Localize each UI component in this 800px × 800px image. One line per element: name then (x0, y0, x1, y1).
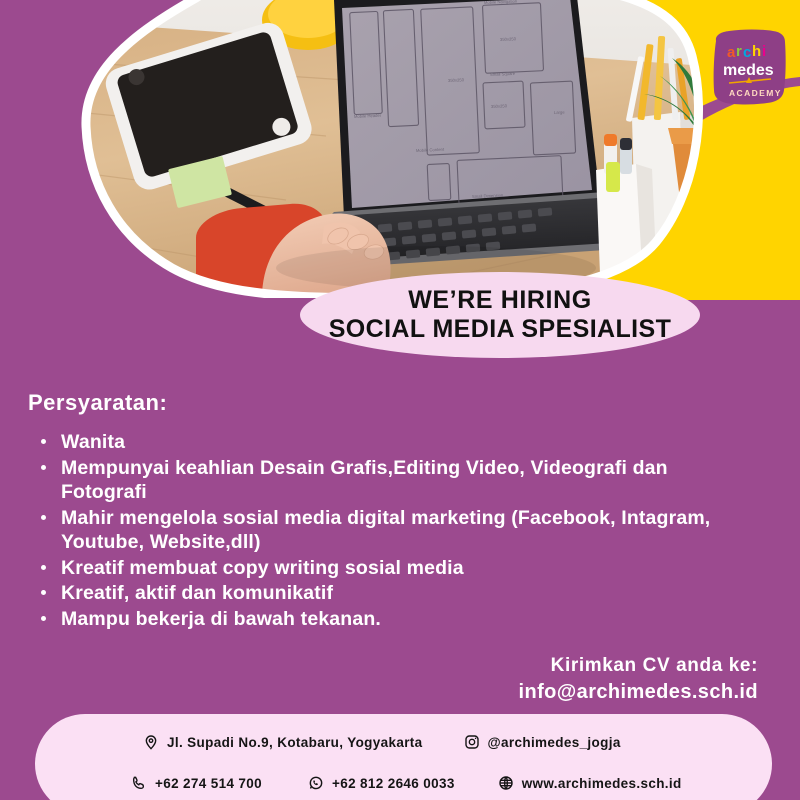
svg-text:i: i (762, 43, 766, 60)
bullet-icon (41, 565, 46, 570)
svg-text:h: h (752, 43, 761, 60)
footer-contact-bar: Jl. Supadi No.9, Kotabaru, Yogyakarta @a… (35, 714, 772, 800)
contact-phone[interactable]: +62 274 514 700 (130, 774, 262, 792)
contact-address-text: Jl. Supadi No.9, Kotabaru, Yogyakarta (167, 735, 423, 750)
list-item: Wanita (38, 430, 728, 455)
globe-icon (497, 774, 515, 792)
list-item-text: Kreatif membuat copy writing sosial medi… (61, 557, 464, 579)
bullet-icon (41, 465, 46, 470)
whatsapp-icon (307, 774, 325, 792)
requirements-title: Persyaratan: (28, 390, 167, 416)
headline-line-2: SOCIAL MEDIA SPESIALIST (329, 315, 672, 343)
contact-website-text: www.archimedes.sch.id (522, 776, 682, 791)
contact-address: Jl. Supadi No.9, Kotabaru, Yogyakarta (142, 733, 423, 751)
contact-instagram-text: @archimedes_jogja (488, 735, 621, 750)
footer-row-top: Jl. Supadi No.9, Kotabaru, Yogyakarta @a… (35, 727, 772, 757)
bullet-icon (41, 439, 46, 444)
cv-email[interactable]: info@archimedes.sch.id (519, 678, 758, 706)
contact-phone-text: +62 274 514 700 (155, 776, 262, 791)
list-item: Kreatif, aktif dan komunikatif (38, 581, 728, 606)
requirements-list: Wanita Mempunyai keahlian Desain Grafis,… (38, 430, 728, 632)
hero-photo: Mobile Navigation 350x250 350x250 350x25… (76, 0, 706, 298)
contact-whatsapp-text: +62 812 2646 0033 (332, 776, 455, 791)
footer-row-bottom: +62 274 514 700 +62 812 2646 0033 (35, 768, 772, 798)
list-item-text: Mampu bekerja di bawah tekanan. (61, 608, 381, 630)
cv-submission-block: Kirimkan CV anda ke: info@archimedes.sch… (519, 654, 758, 706)
bullet-icon (41, 616, 46, 621)
location-pin-icon (142, 733, 160, 751)
contact-instagram[interactable]: @archimedes_jogja (463, 733, 621, 751)
svg-text:medes: medes (723, 62, 774, 79)
svg-text:ACADEMY: ACADEMY (729, 88, 782, 98)
list-item: Kreatif membuat copy writing sosial medi… (38, 556, 728, 581)
list-item-text: Mahir mengelola sosial media digital mar… (61, 507, 710, 554)
svg-text:r: r (736, 43, 742, 60)
svg-text:Large: Large (554, 109, 566, 115)
list-item-text: Kreatif, aktif dan komunikatif (61, 582, 333, 604)
list-item: Mampu bekerja di bawah tekanan. (38, 607, 728, 632)
contact-whatsapp[interactable]: +62 812 2646 0033 (307, 774, 455, 792)
bullet-icon (41, 515, 46, 520)
list-item: Mempunyai keahlian Desain Grafis,Editing… (38, 456, 728, 505)
svg-text:350x250: 350x250 (500, 36, 517, 42)
svg-text:c: c (743, 44, 751, 61)
headline-line-1: WE’RE HIRING (408, 287, 592, 313)
hiring-headline-banner: WE’RE HIRING SOCIAL MEDIA SPESIALIST (300, 272, 700, 358)
cv-call-to-action: Kirimkan CV anda ke: (519, 654, 758, 678)
svg-text:350x250: 350x250 (448, 77, 465, 83)
list-item-text: Wanita (61, 431, 125, 453)
list-item-text: Mempunyai keahlian Desain Grafis,Editing… (61, 457, 668, 504)
phone-icon (130, 774, 148, 792)
bullet-icon (41, 590, 46, 595)
contact-website[interactable]: www.archimedes.sch.id (497, 774, 682, 792)
poster-canvas: Mobile Navigation 350x250 350x250 350x25… (0, 0, 800, 800)
list-item: Mahir mengelola sosial media digital mar… (38, 506, 728, 555)
svg-text:a: a (727, 44, 736, 61)
archimedes-academy-logo: a r c h i medes ACADEMY (709, 28, 789, 106)
instagram-icon (463, 733, 481, 751)
svg-text:350x250: 350x250 (491, 103, 508, 109)
